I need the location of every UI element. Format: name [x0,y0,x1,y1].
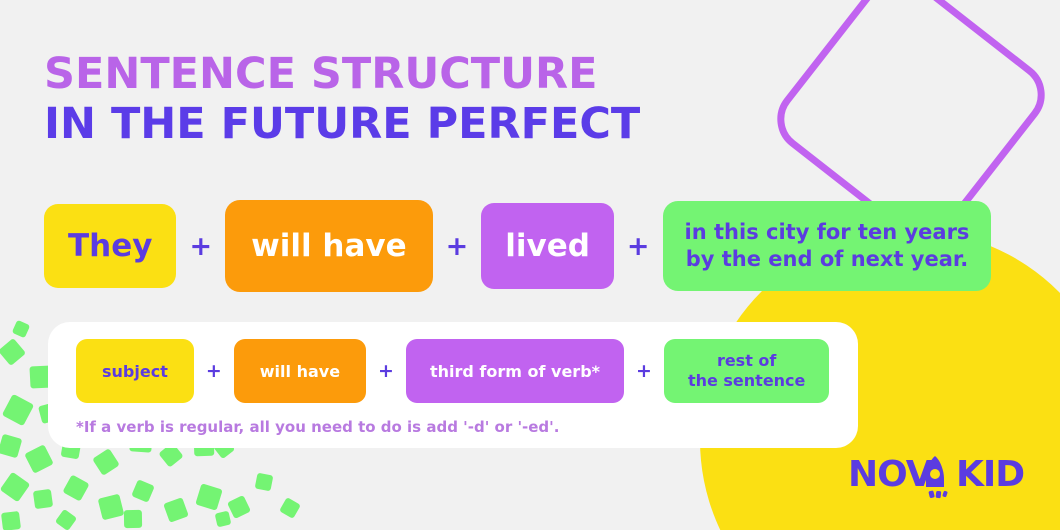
confetti-square [98,494,125,521]
formula-chip-third-form-of-verb: third form of verb* [406,339,624,403]
formula-chip-subject: subject [76,339,194,403]
formula-plus-separator-icon-1: + [194,362,234,381]
confetti-square [2,394,34,426]
confetti-square [55,509,77,530]
confetti-square [24,444,54,474]
confetti-square [0,434,22,459]
formula-card: subject + will have + third form of verb… [48,322,858,448]
formula-plus-separator-icon-2: + [366,362,406,381]
confetti-square [195,483,222,510]
formula-chip-rest-of-sentence: rest of the sentence [664,339,829,403]
plus-separator-icon-2: + [433,233,482,260]
svg-text:KID: KID [956,454,1024,495]
example-sentence-row: They + will have + lived + in this city … [44,198,991,294]
example-chip-verb: lived [481,203,614,289]
confetti-square [227,495,251,519]
example-chip-subject: They [44,204,176,288]
example-chip-rest-of-sentence: in this city for ten years by the end of… [663,201,992,291]
confetti-square [0,472,30,503]
confetti-square [12,320,30,338]
example-chip-rest-line-2: by the end of next year. [686,246,969,273]
page-title-line-2: IN THE FUTURE PERFECT [44,102,640,147]
rocket-window-icon [930,469,940,479]
page-title-line-1: SENTENCE STRUCTURE [44,52,640,97]
confetti-square [92,448,120,476]
confetti-square [62,474,89,501]
example-chip-rest-line-1: in this city for ten years [685,219,970,246]
formula-row: subject + will have + third form of verb… [76,338,858,404]
plus-separator-icon-3: + [614,233,663,260]
formula-chip-rest-line-2: the sentence [688,371,805,391]
novakid-logo: NOV KID [848,446,1038,502]
confetti-square [215,511,232,528]
confetti-square [163,497,189,523]
example-chip-auxiliary: will have [225,200,433,292]
confetti-square [0,338,26,366]
confetti-square [279,497,301,519]
confetti-square [131,479,155,503]
formula-chip-auxiliary: will have [234,339,366,403]
formula-chip-rest-line-1: rest of [717,351,776,371]
formula-plus-separator-icon-3: + [624,362,664,381]
novakid-logo-icon: NOV KID [848,446,1038,502]
plus-separator-icon-1: + [176,233,225,260]
infographic-canvas: SENTENCE STRUCTURE IN THE FUTURE PERFECT… [0,0,1060,530]
confetti-square [1,511,21,530]
confetti-square [255,473,274,492]
confetti-square [33,489,53,509]
confetti-square [124,510,142,528]
footnote-text: *If a verb is regular, all you need to d… [76,418,858,436]
page-title: SENTENCE STRUCTURE IN THE FUTURE PERFECT [44,52,640,146]
svg-text:NOV: NOV [848,454,934,495]
